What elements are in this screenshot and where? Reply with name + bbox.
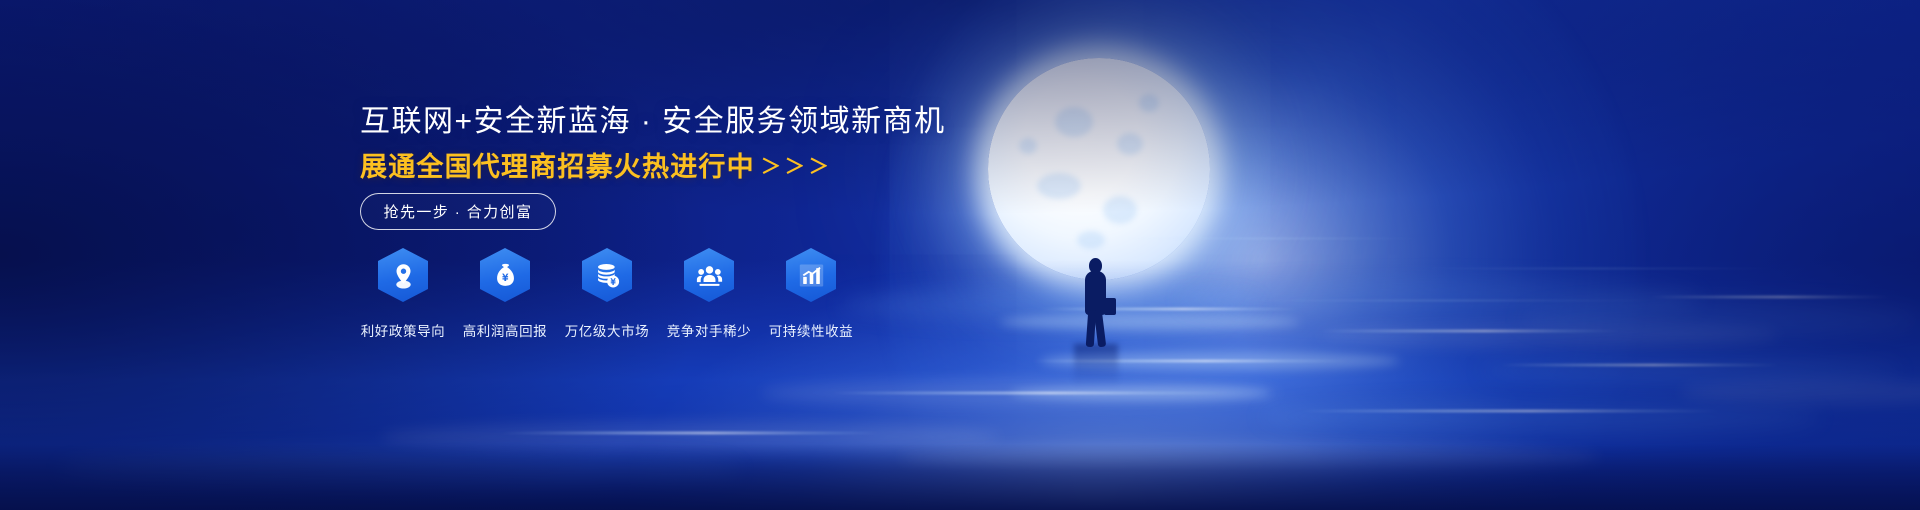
banner-subheadline-text: 展通全国代理商招募火热进行中 [360, 145, 755, 184]
feature-label: 万亿级大市场 [565, 320, 650, 340]
feature-item[interactable]: 高利润高回报 [454, 248, 556, 340]
coin-stack-yuan-icon [594, 262, 621, 289]
bar-chart-growth-icon [798, 262, 825, 289]
chevron-right-icon: ＞＞＞ [761, 150, 833, 179]
feature-label: 高利润高回报 [463, 320, 548, 340]
cta-pill-button[interactable]: 抢先一步 · 合力创富 [360, 193, 556, 230]
location-pin-icon [390, 262, 417, 289]
banner-headline: 互联网+安全新蓝海 · 安全服务领域新商机 [360, 96, 946, 140]
promo-banner: 互联网+安全新蓝海 · 安全服务领域新商机 展通全国代理商招募火热进行中 ＞＞＞… [0, 0, 1920, 510]
feature-item[interactable]: 可持续性收益 [760, 248, 862, 340]
feature-item[interactable]: 利好政策导向 [352, 248, 454, 340]
feature-badge [378, 248, 428, 302]
feature-badge [684, 248, 734, 302]
feature-item[interactable]: 竞争对手稀少 [658, 248, 760, 340]
money-bag-yuan-icon [492, 262, 519, 289]
feature-label: 利好政策导向 [361, 320, 446, 340]
feature-item[interactable]: 万亿级大市场 [556, 248, 658, 340]
people-group-icon [696, 262, 723, 289]
cta-pill-label: 抢先一步 · 合力创富 [384, 201, 533, 222]
feature-badge [480, 248, 530, 302]
feature-label: 竞争对手稀少 [667, 320, 752, 340]
feature-badge [582, 248, 632, 302]
banner-content: 互联网+安全新蓝海 · 安全服务领域新商机 展通全国代理商招募火热进行中 ＞＞＞… [360, 0, 980, 510]
banner-subheadline: 展通全国代理商招募火热进行中 ＞＞＞ [360, 145, 833, 184]
feature-label: 可持续性收益 [769, 320, 854, 340]
feature-badge [786, 248, 836, 302]
feature-list: 利好政策导向 高利润高回报 [352, 248, 862, 340]
